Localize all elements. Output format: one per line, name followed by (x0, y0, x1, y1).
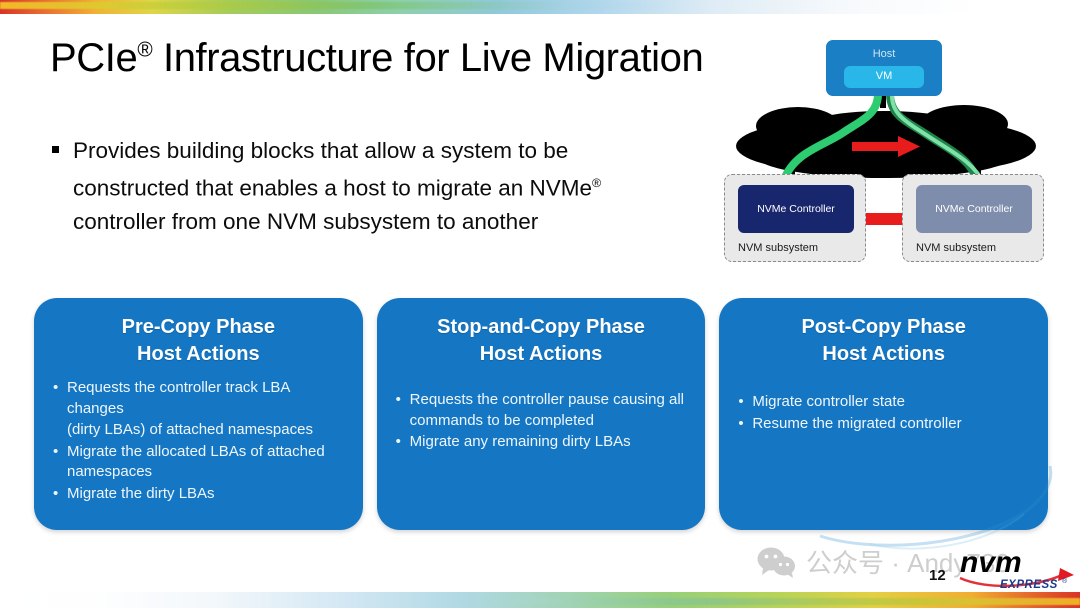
square-bullet-icon (52, 146, 59, 153)
migration-diagram: Host VM NVMe Controller NVM subsystem NV… (712, 28, 1060, 278)
slide-root: PCIe® Infrastructure for Live Migration … (0, 0, 1080, 608)
list-item: Requests the controller pause causing al… (395, 390, 688, 431)
card-title-line2: Host Actions (52, 341, 345, 368)
nvm-express-logo: nvm EXPRESS ® (952, 538, 1074, 596)
body-text-part1: Provides building blocks that allow a sy… (73, 138, 592, 201)
list-item: Migrate any remaining dirty LBAs (395, 432, 688, 453)
body-bullet: Provides building blocks that allow a sy… (52, 134, 682, 238)
nvm-subsystem-right: NVMe Controller NVM subsystem (902, 174, 1044, 262)
list-item: Resume the migrated controller (737, 414, 1030, 435)
body-bullet-text: Provides building blocks that allow a sy… (73, 134, 682, 238)
host-label: Host (826, 48, 942, 60)
card-title-line1: Pre-Copy Phase (52, 314, 345, 341)
nvm-subsystem-left: NVMe Controller NVM subsystem (724, 174, 866, 262)
nvm-subsystem-left-label: NVM subsystem (738, 242, 818, 254)
card-title-line1: Post-Copy Phase (737, 314, 1030, 341)
list-item: Migrate the dirty LBAs (52, 484, 345, 505)
card-title-line1: Stop-and-Copy Phase (395, 314, 688, 341)
phase-cards: Pre-Copy Phase Host Actions Requests the… (34, 298, 1048, 530)
host-box: Host VM (826, 40, 942, 96)
card-list-stop-and-copy: Requests the controller pause causing al… (395, 390, 688, 453)
list-item: Migrate controller state (737, 392, 1030, 413)
page-title: PCIe® Infrastructure for Live Migration (50, 36, 703, 81)
list-item: (dirty LBAs) of attached namespaces (52, 420, 345, 441)
nvme-controller-source: NVMe Controller (738, 185, 854, 233)
card-post-copy-phase: Post-Copy Phase Host Actions Migrate con… (719, 298, 1048, 530)
cloud-icon (736, 105, 1036, 178)
card-list-post-copy: Migrate controller state Resume the migr… (737, 392, 1030, 434)
title-rest: Infrastructure for Live Migration (152, 36, 703, 80)
top-color-bar (0, 0, 1080, 14)
nvm-subsystem-right-label: NVM subsystem (916, 242, 996, 254)
card-stop-and-copy-phase: Stop-and-Copy Phase Host Actions Request… (377, 298, 706, 530)
page-number: 12 (929, 567, 946, 584)
title-main: PCIe (50, 36, 137, 80)
card-list-pre-copy: Requests the controller track LBA change… (52, 378, 345, 504)
logo-registered-mark: ® (1062, 577, 1068, 585)
list-item: Requests the controller track LBA change… (52, 378, 345, 419)
wechat-icon (757, 546, 797, 578)
logo-subtext: EXPRESS (1000, 579, 1058, 591)
bottom-color-bar (0, 592, 1080, 608)
card-title-line2: Host Actions (395, 341, 688, 368)
card-title-stop-and-copy: Stop-and-Copy Phase Host Actions (395, 314, 688, 368)
vm-label: VM (844, 70, 924, 82)
vm-box: VM (844, 66, 924, 88)
card-pre-copy-phase: Pre-Copy Phase Host Actions Requests the… (34, 298, 363, 530)
body-text-part2: controller from one NVM subsystem to ano… (73, 209, 538, 234)
logo-wordmark: nvm (960, 546, 1022, 579)
nvme-controller-target: NVMe Controller (916, 185, 1032, 233)
title-registered-mark: ® (137, 39, 152, 62)
list-item: Migrate the allocated LBAs of attached n… (52, 442, 345, 483)
card-title-post-copy: Post-Copy Phase Host Actions (737, 314, 1030, 368)
card-title-pre-copy: Pre-Copy Phase Host Actions (52, 314, 345, 368)
body-registered-mark: ® (592, 176, 601, 190)
card-title-line2: Host Actions (737, 341, 1030, 368)
